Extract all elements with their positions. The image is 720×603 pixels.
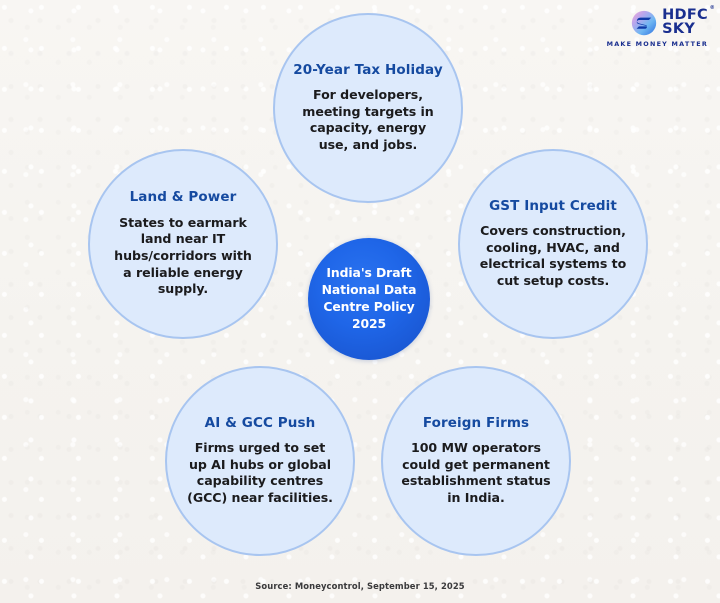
bubble-body: States to earmark land near IT hubs/corr…	[108, 215, 258, 298]
logo-tagline: MAKE MONEY MATTER	[596, 40, 708, 48]
source-line: Source: Moneycontrol, September 15, 2025	[0, 581, 720, 591]
registered-mark: ®	[710, 6, 715, 11]
bubble-body: For developers, meeting targets in capac…	[293, 87, 443, 153]
bubble-body: Firms urged to set up AI hubs or global …	[185, 440, 335, 506]
hub-title: India's Draft National Data Centre Polic…	[308, 265, 430, 332]
bubble-ai-gcc-push[interactable]: AI & GCC Push Firms urged to set up AI h…	[165, 366, 355, 556]
logo-row: HDFC SKY ®	[596, 8, 708, 38]
center-hub[interactable]: India's Draft National Data Centre Polic…	[308, 238, 430, 360]
bubble-title: 20-Year Tax Holiday	[293, 63, 442, 79]
bubble-title: GST Input Credit	[489, 199, 617, 215]
brand-logo: HDFC SKY ® MAKE MONEY MATTER	[596, 8, 708, 52]
bubble-title: AI & GCC Push	[205, 416, 316, 432]
logo-wordmark: HDFC SKY ®	[662, 9, 708, 37]
bubble-land-power[interactable]: Land & Power States to earmark land near…	[88, 149, 278, 339]
hdfc-sky-swoosh-icon	[631, 10, 657, 36]
bubble-body: 100 MW operators could get permanent est…	[401, 440, 551, 506]
infographic-canvas: HDFC SKY ® MAKE MONEY MATTER 20-Year Tax…	[0, 0, 720, 603]
bubble-body: Covers construction, cooling, HVAC, and …	[478, 223, 628, 289]
bubble-foreign-firms[interactable]: Foreign Firms 100 MW operators could get…	[381, 366, 571, 556]
bubble-title: Land & Power	[130, 190, 237, 206]
logo-name-line2: SKY	[662, 23, 695, 37]
bubble-tax-holiday[interactable]: 20-Year Tax Holiday For developers, meet…	[273, 13, 463, 203]
bubble-gst-input-credit[interactable]: GST Input Credit Covers construction, co…	[458, 149, 648, 339]
bubble-title: Foreign Firms	[423, 416, 529, 432]
